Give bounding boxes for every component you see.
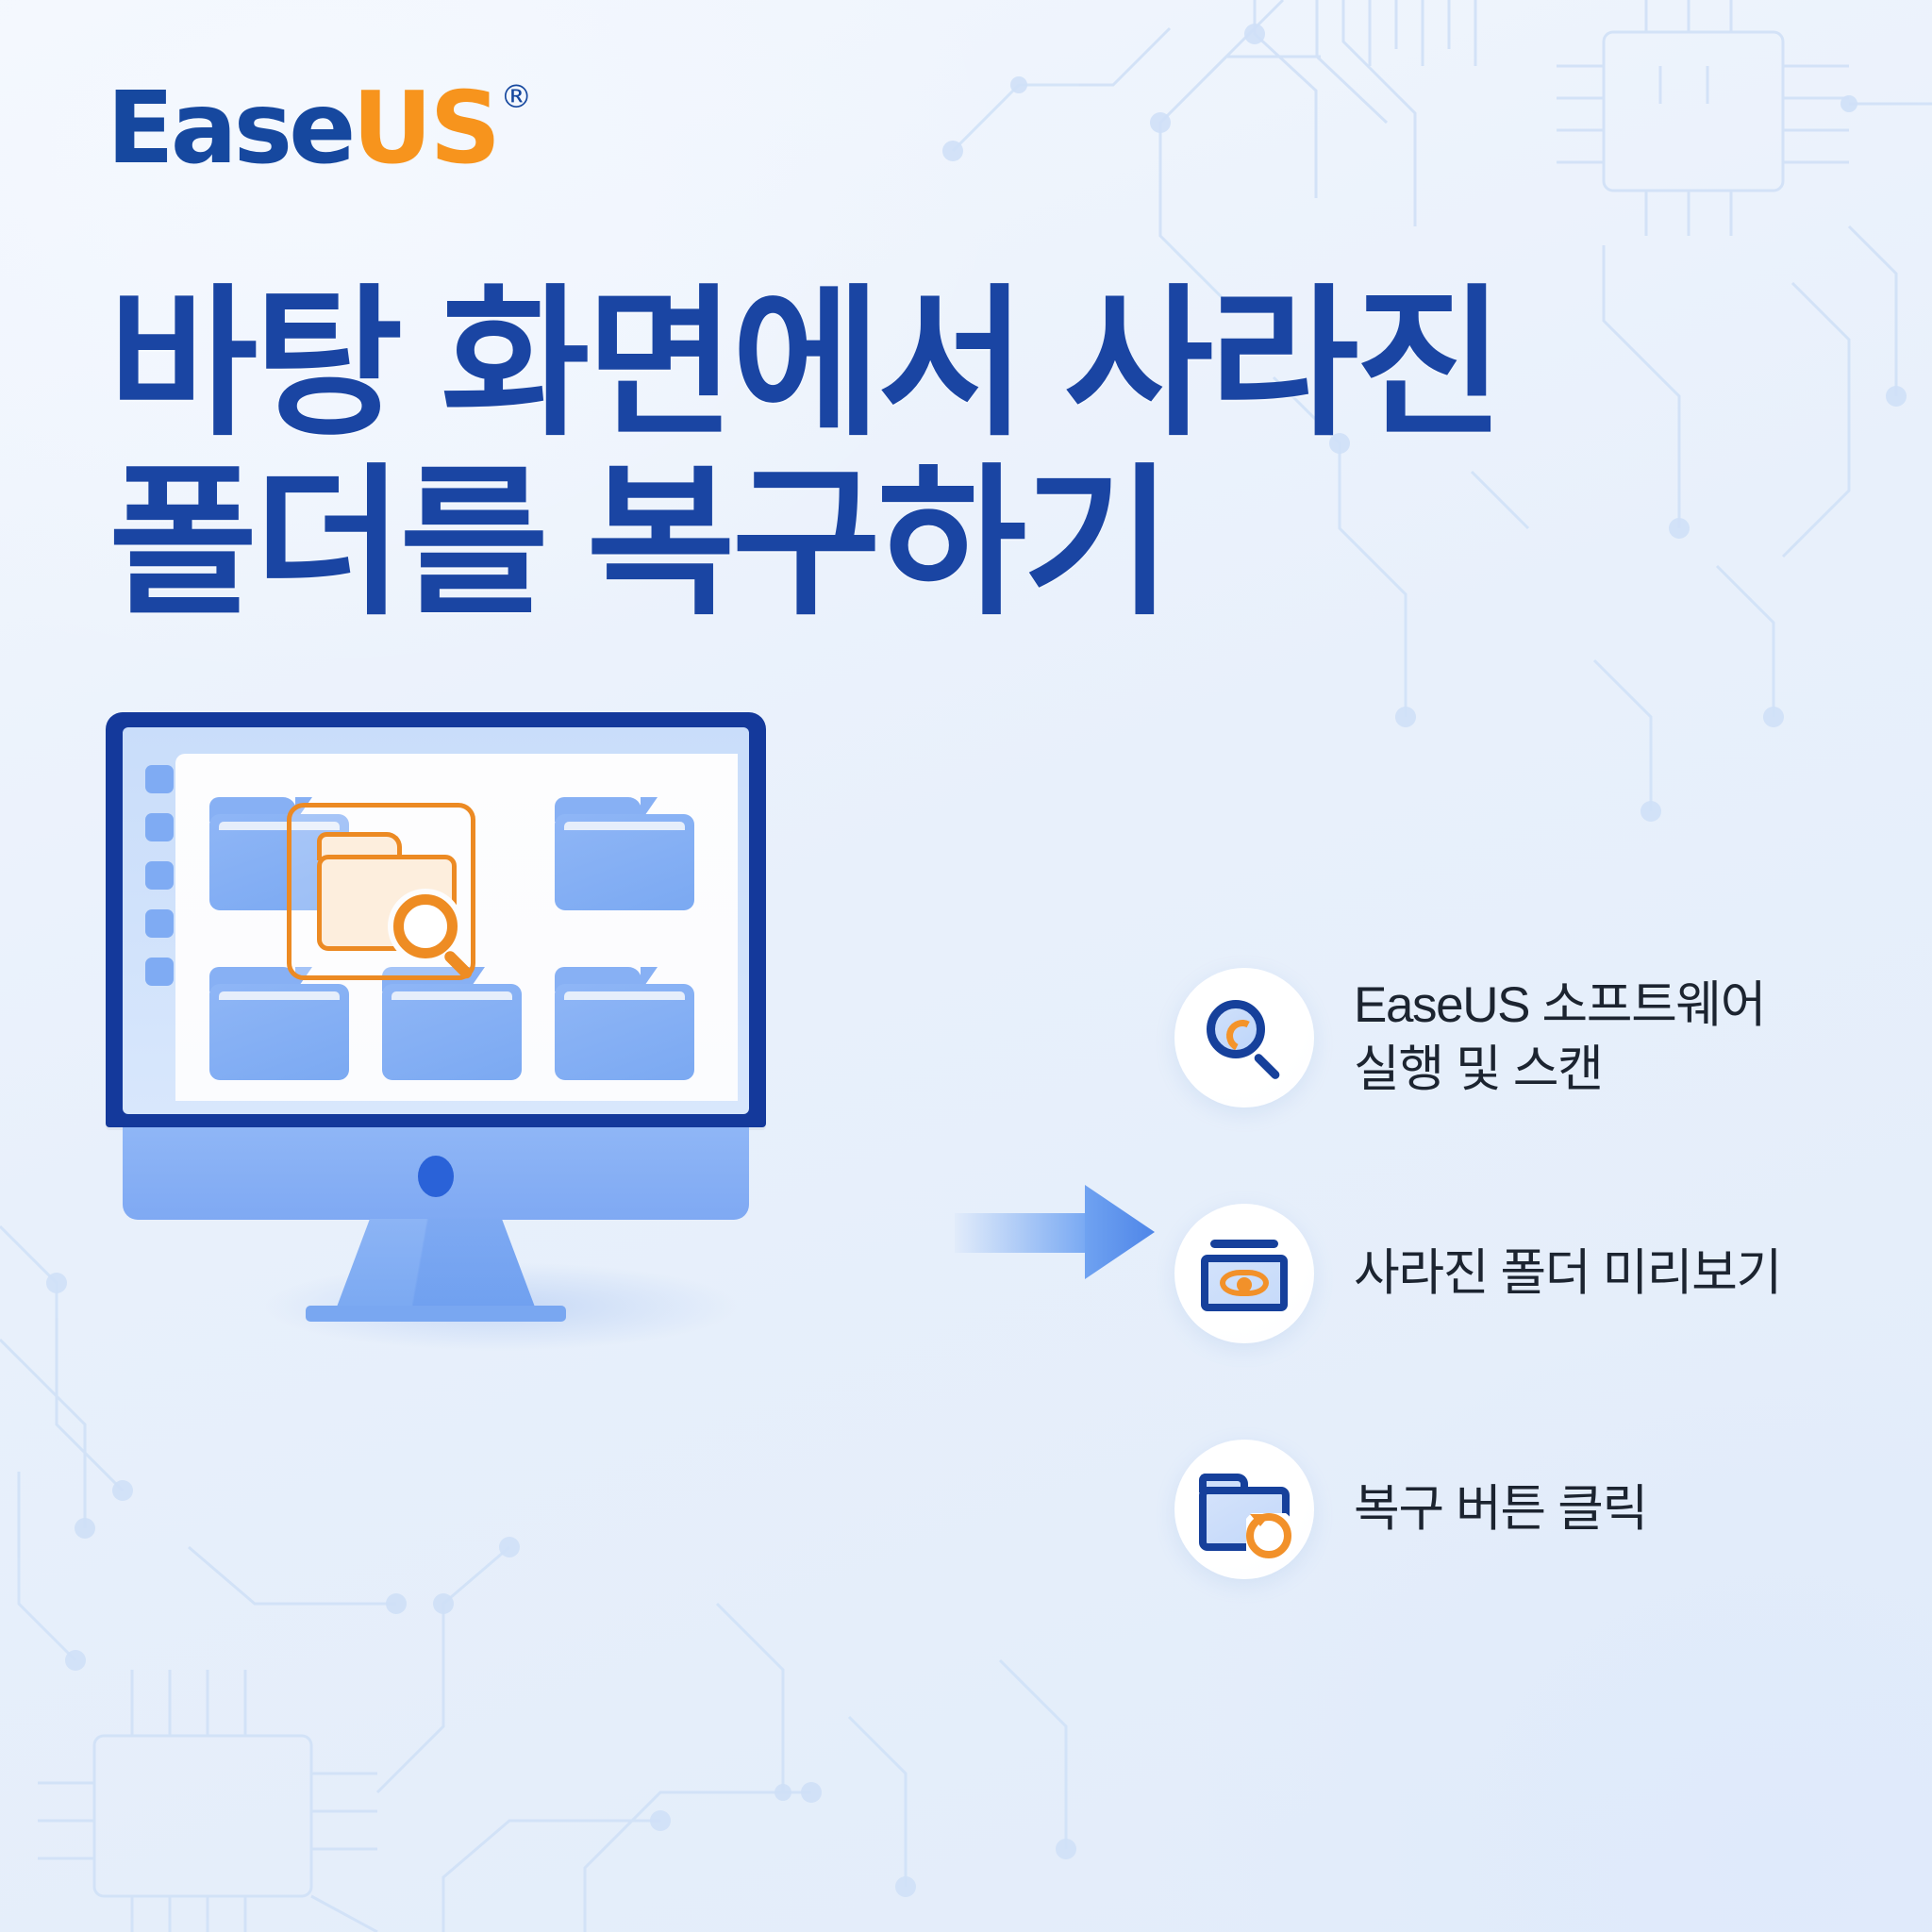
folder-lip: [219, 991, 340, 1000]
step-icon-bubble-2: [1174, 1204, 1314, 1343]
monitor-indicator-dot: [418, 1156, 454, 1197]
sidebar-tile[interactable]: [145, 813, 174, 841]
step-item-1[interactable]: EaseUS 소프트웨어 실행 및 스캔: [1174, 920, 1873, 1156]
poster-canvas: Ease US ® 바탕 화면에서 사라진 폴더를 복구하기: [0, 0, 1932, 1932]
page-title-line-2: 폴더를 복구하기: [108, 462, 1501, 625]
folder-lip: [564, 991, 685, 1000]
page-title-line-1: 바탕 화면에서 사라진: [108, 283, 1501, 445]
preview-window-top-bar: [1210, 1240, 1278, 1248]
folder-lip: [391, 991, 512, 1000]
step-item-3[interactable]: 복구 버튼 클릭: [1174, 1391, 1873, 1627]
search-icon-accent-arc: [1223, 1016, 1263, 1057]
search-icon: [1207, 1000, 1284, 1077]
monitor-inner-frame: [123, 727, 749, 1114]
logo-text-us: US: [352, 79, 498, 178]
selected-folder-highlight[interactable]: [287, 803, 475, 980]
step-icon-bubble-1: [1174, 968, 1314, 1108]
folder-lip: [564, 822, 685, 830]
magnifier-handle: [442, 949, 475, 981]
arrow-shaft: [955, 1213, 1096, 1253]
screen-sidebar-tiles: [145, 765, 174, 1048]
folder-icon[interactable]: [555, 797, 694, 910]
eye-preview-icon: [1201, 1240, 1288, 1311]
monitor-screen: [175, 754, 738, 1101]
restore-arrow-badge-icon: [1246, 1513, 1291, 1558]
page-title: 바탕 화면에서 사라진 폴더를 복구하기: [108, 283, 1501, 625]
search-icon-handle: [1253, 1052, 1281, 1080]
magnifier-search-icon: [393, 894, 473, 974]
folder-restore-icon: [1199, 1474, 1290, 1551]
registered-trademark-icon: ®: [500, 81, 530, 113]
folder-icon[interactable]: [382, 967, 522, 1080]
step-label-3: 복구 버튼 클릭: [1354, 1477, 1647, 1541]
sidebar-tile[interactable]: [145, 909, 174, 938]
step-label-1: EaseUS 소프트웨어 실행 및 스캔: [1354, 974, 1765, 1102]
sidebar-tile[interactable]: [145, 958, 174, 986]
monitor-bezel: [106, 712, 766, 1127]
sidebar-tile[interactable]: [145, 861, 174, 890]
search-icon-circle: [1207, 1000, 1265, 1058]
right-arrow-icon: [955, 1185, 1153, 1279]
step-label-2: 사라진 폴더 미리보기: [1354, 1241, 1781, 1306]
monitor-illustration: [106, 712, 766, 1297]
eye-pupil: [1237, 1277, 1252, 1292]
step-item-2[interactable]: 사라진 폴더 미리보기: [1174, 1156, 1873, 1391]
folder-icon[interactable]: [555, 967, 694, 1080]
magnifier-lens: [393, 894, 458, 958]
easeus-logo[interactable]: Ease US ®: [107, 79, 530, 178]
steps-list: EaseUS 소프트웨어 실행 및 스캔 사라진 폴더 미리보기: [1174, 920, 1873, 1627]
sidebar-tile[interactable]: [145, 765, 174, 793]
step-icon-bubble-3: [1174, 1440, 1314, 1579]
folder-icon[interactable]: [209, 967, 349, 1080]
monitor-base: [306, 1306, 566, 1322]
monitor-stand: [336, 1219, 536, 1309]
logo-text-ease: Ease: [107, 79, 352, 178]
arrow-head: [1085, 1185, 1155, 1279]
